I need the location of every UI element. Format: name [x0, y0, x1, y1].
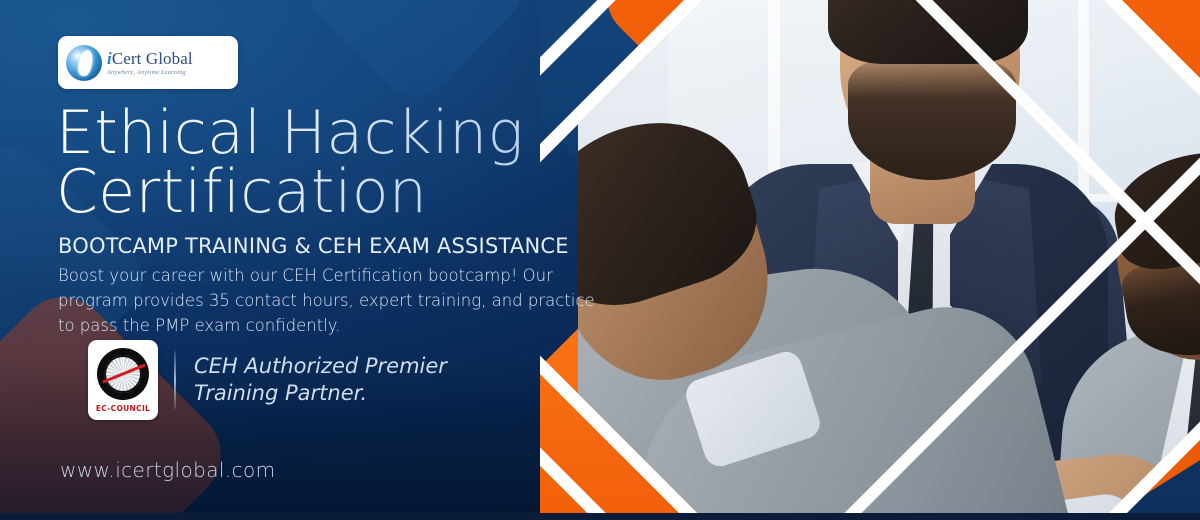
subheadline: BOOTCAMP TRAINING & CEH EXAM ASSISTANCE — [58, 234, 569, 258]
badge-label: EC-COUNCIL — [96, 404, 150, 413]
banner-content: iCert Global Anywhere, Anytime Learning … — [0, 0, 640, 520]
headline-line-2: Certification — [56, 163, 636, 222]
ec-council-badge: EC-COUNCIL — [88, 340, 158, 420]
seal-ring — [98, 349, 148, 399]
promo-banner: iCert Global Anywhere, Anytime Learning … — [0, 0, 1200, 520]
partner-block: EC-COUNCIL CEH Authorized Premier Traini… — [88, 340, 447, 420]
globe-swoosh-icon — [66, 45, 102, 81]
logo-tagline: Anywhere, Anytime Learning — [107, 70, 193, 76]
partner-text: CEH Authorized Premier Training Partner. — [194, 353, 447, 407]
bottom-edge-bar — [0, 513, 1200, 520]
body-copy: Boost your career with our CEH Certifica… — [58, 263, 603, 339]
partner-text-line-2: Training Partner. — [194, 380, 447, 407]
page-title: Ethical Hacking Certification — [56, 104, 636, 222]
brand-logo[interactable]: iCert Global Anywhere, Anytime Learning — [58, 36, 238, 89]
logo-name-rest: Cert Global — [112, 49, 193, 68]
logo-text-block: iCert Global Anywhere, Anytime Learning — [107, 50, 193, 76]
vertical-divider — [174, 351, 176, 409]
logo-name: iCert Global — [107, 50, 193, 67]
website-url[interactable]: www.icertglobal.com — [60, 458, 276, 482]
partner-text-line-1: CEH Authorized Premier — [194, 353, 447, 380]
ec-council-seal-icon — [97, 348, 149, 400]
